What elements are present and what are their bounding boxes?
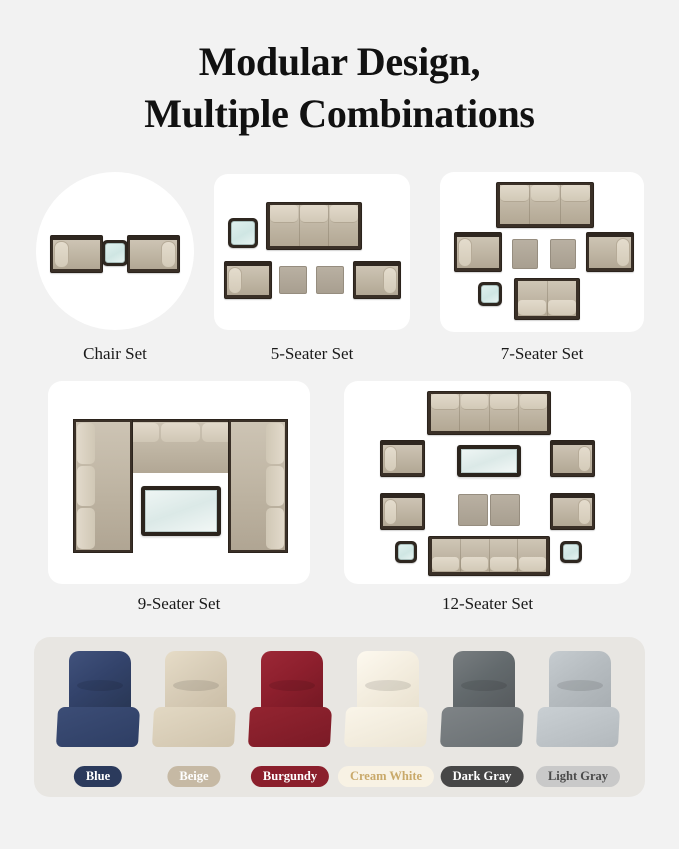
seat-cushion xyxy=(440,707,524,747)
back-cushion xyxy=(69,651,131,713)
sectional-back-cushions xyxy=(266,423,284,549)
chair-arm-cushion xyxy=(54,241,69,268)
ottoman-1 xyxy=(512,239,538,269)
glass-top xyxy=(231,221,255,245)
back-cushion xyxy=(519,557,546,572)
ottoman-2 xyxy=(550,239,576,269)
chair-arm-cushion xyxy=(458,238,472,267)
config-card-5-seater-set[interactable] xyxy=(214,174,410,330)
back-cushion xyxy=(453,651,515,713)
chair-arm-cushion xyxy=(578,446,591,472)
color-swatch-dark-gray[interactable]: Dark Gray xyxy=(436,651,528,787)
color-swatch-beige[interactable]: Beige xyxy=(148,651,240,787)
back-cushion xyxy=(266,423,284,464)
ottoman-1 xyxy=(458,494,488,526)
glass-top xyxy=(105,243,125,263)
config-card-9-seater-set[interactable] xyxy=(48,381,310,584)
ottoman-2 xyxy=(490,494,520,526)
back-cushion xyxy=(531,185,560,202)
back-cushion xyxy=(561,185,590,202)
glass-top xyxy=(481,285,499,303)
side-table xyxy=(228,218,258,248)
sectional-back-cushions xyxy=(77,423,95,549)
glass-top xyxy=(563,544,579,560)
back-cushion xyxy=(518,300,546,316)
config-card-12-seater-set[interactable] xyxy=(344,381,631,584)
sofa-4-seat-bottom xyxy=(428,536,550,576)
sofa-back-cushions xyxy=(270,205,358,223)
cushion-image xyxy=(343,651,429,749)
caption-chair-set: Chair Set xyxy=(36,344,194,364)
chair-arm-cushion xyxy=(383,267,397,294)
back-cushion xyxy=(357,651,419,713)
chair-arm-cushion xyxy=(384,499,397,525)
chair-arm-cushion xyxy=(161,241,176,268)
sectional-left-run xyxy=(73,419,133,553)
chair-arm-cushion xyxy=(616,238,630,267)
chair-right-upper xyxy=(550,440,595,477)
back-cushion xyxy=(431,394,459,410)
glass-top xyxy=(145,490,217,532)
back-cushion xyxy=(520,394,548,410)
infographic-page: Modular Design, Multiple Combinations Ch… xyxy=(0,0,679,849)
sectional-right-run xyxy=(228,419,288,553)
back-cushion xyxy=(330,205,358,223)
seat-cushion xyxy=(344,707,428,747)
back-cushion xyxy=(77,423,95,464)
side-table-left xyxy=(395,541,417,563)
chair-left-upper xyxy=(380,440,425,477)
cushion-image xyxy=(247,651,333,749)
color-swatch-cream-white[interactable]: Cream White xyxy=(340,651,432,787)
back-cushion xyxy=(161,423,201,442)
color-swatch-light-gray[interactable]: Light Gray xyxy=(532,651,624,787)
color-label-light-gray[interactable]: Light Gray xyxy=(536,766,620,787)
color-label-cream-white[interactable]: Cream White xyxy=(338,766,434,787)
cushion-image xyxy=(439,651,525,749)
back-cushion xyxy=(77,508,95,549)
chair-arm-cushion xyxy=(578,499,591,525)
ottoman-1 xyxy=(279,266,307,294)
chair-right xyxy=(127,235,180,273)
chair-right-lower xyxy=(550,493,595,530)
back-cushion xyxy=(500,185,529,202)
config-card-chair-set[interactable] xyxy=(36,172,194,330)
chair-arm-cushion xyxy=(384,446,397,472)
back-cushion xyxy=(77,466,95,507)
sofa-back-cushions xyxy=(500,185,590,202)
sofa-2-seat xyxy=(514,278,580,320)
glass-top xyxy=(398,544,414,560)
side-table-right xyxy=(560,541,582,563)
caption-12-seater-set: 12-Seater Set xyxy=(344,594,631,614)
back-cushion xyxy=(490,557,517,572)
sofa-3-seat xyxy=(266,202,362,250)
coffee-table xyxy=(457,445,521,477)
side-table xyxy=(478,282,502,306)
color-label-burgundy[interactable]: Burgundy xyxy=(251,766,329,787)
sofa-3-seat xyxy=(496,182,594,228)
color-swatch-blue[interactable]: Blue xyxy=(52,651,144,787)
color-label-blue[interactable]: Blue xyxy=(74,766,122,787)
back-cushion xyxy=(261,651,323,713)
title-line-2: Multiple Combinations xyxy=(0,88,679,140)
color-label-beige[interactable]: Beige xyxy=(167,766,220,787)
title-line-1: Modular Design, xyxy=(0,36,679,88)
back-cushion xyxy=(432,557,459,572)
color-options-panel: Blue Beige Burgundy Cream White xyxy=(34,637,645,797)
seat-cushion xyxy=(536,707,620,747)
config-card-7-seater-set[interactable] xyxy=(440,172,644,332)
back-cushion xyxy=(165,651,227,713)
seat-cushion xyxy=(56,707,140,747)
color-label-dark-gray[interactable]: Dark Gray xyxy=(441,766,524,787)
caption-9-seater-set: 9-Seater Set xyxy=(48,594,310,614)
back-cushion xyxy=(461,394,489,410)
chair-right xyxy=(586,232,634,272)
seat-cushion xyxy=(248,707,332,747)
color-swatch-burgundy[interactable]: Burgundy xyxy=(244,651,336,787)
chair-right xyxy=(353,261,401,299)
caption-5-seater-set: 5-Seater Set xyxy=(214,344,410,364)
glass-top xyxy=(461,449,517,473)
back-cushion xyxy=(461,557,488,572)
cushion-image xyxy=(55,651,141,749)
chair-left xyxy=(454,232,502,272)
back-cushion xyxy=(548,300,576,316)
back-cushion xyxy=(300,205,328,223)
back-cushion xyxy=(266,466,284,507)
chair-arm-cushion xyxy=(228,267,242,294)
sofa-back-cushions xyxy=(518,300,576,316)
coffee-table xyxy=(141,486,221,536)
chair-left xyxy=(50,235,103,273)
back-cushion xyxy=(270,205,298,223)
sofa-back-cushions xyxy=(431,394,547,410)
cushion-image xyxy=(535,651,621,749)
seat-cushion xyxy=(152,707,236,747)
chair-left xyxy=(224,261,272,299)
ottoman-2 xyxy=(316,266,344,294)
back-cushion xyxy=(549,651,611,713)
back-cushion xyxy=(490,394,518,410)
back-cushion xyxy=(266,508,284,549)
sofa-back-cushions xyxy=(432,557,546,572)
chair-left-lower xyxy=(380,493,425,530)
caption-7-seater-set: 7-Seater Set xyxy=(440,344,644,364)
side-table xyxy=(102,240,128,266)
page-title: Modular Design, Multiple Combinations xyxy=(0,36,679,140)
sofa-4-seat-top xyxy=(427,391,551,435)
cushion-image xyxy=(151,651,237,749)
